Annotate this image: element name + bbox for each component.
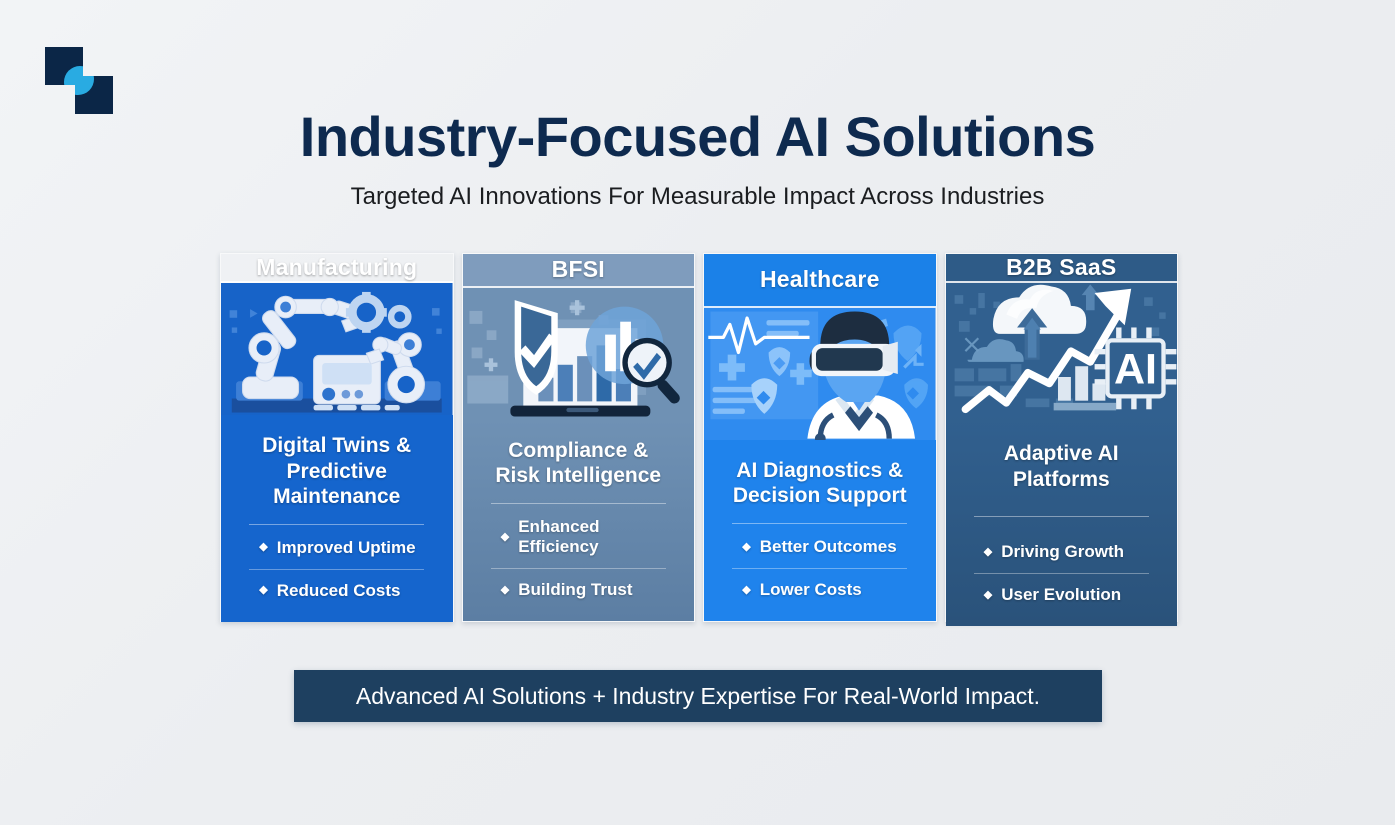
card-divider	[974, 516, 1149, 517]
diamond-bullet-icon: ◆	[259, 585, 267, 596]
card-title-manufacturing: Digital Twins & Predictive Maintenance	[235, 433, 439, 510]
illustration-doctor-vr-headset-vitals	[704, 308, 936, 440]
benefit-label: Driving Growth	[1001, 542, 1124, 562]
industry-card-healthcare[interactable]: Healthcare	[703, 253, 937, 622]
company-logo	[45, 47, 109, 107]
illustration-shield-check-bar-chart-magnifier	[463, 288, 695, 420]
benefit-label: Building Trust	[518, 580, 632, 600]
diamond-bullet-icon: ◆	[259, 542, 267, 553]
benefit-label: Reduced Costs	[277, 581, 401, 601]
card-title-bfsi: Compliance & Risk Intelligence	[495, 438, 661, 489]
list-item: ◆ Building Trust	[491, 568, 666, 611]
page-title: Industry-Focused AI Solutions	[0, 104, 1395, 169]
industry-card-bfsi[interactable]: BFSI	[462, 253, 696, 622]
card-header-manufacturing: Manufacturing	[221, 254, 453, 283]
card-benefits-healthcare: ◆ Better Outcomes ◆ Lower Costs	[732, 526, 907, 611]
illustration-cloud-arrow-growth-ai-chip: AI	[946, 283, 1178, 415]
industry-card-b2b-saas[interactable]: B2B SaaS	[945, 253, 1179, 622]
logo-quarter-circle-icon	[75, 76, 94, 95]
diamond-bullet-icon: ◆	[984, 547, 992, 558]
diamond-bullet-icon: ◆	[742, 585, 750, 596]
card-title-healthcare: AI Diagnostics & Decision Support	[733, 458, 907, 509]
list-item: ◆ Better Outcomes	[732, 526, 907, 568]
diamond-bullet-icon: ◆	[501, 585, 509, 596]
list-item: ◆ Reduced Costs	[249, 569, 424, 612]
list-item: ◆ Enhanced Efficiency	[491, 506, 666, 568]
diamond-bullet-icon: ◆	[984, 590, 992, 601]
benefit-label: Better Outcomes	[760, 537, 897, 557]
diamond-bullet-icon: ◆	[742, 542, 750, 553]
card-divider	[249, 524, 424, 525]
card-header-bfsi: BFSI	[463, 254, 695, 288]
benefit-label: Enhanced Efficiency	[518, 517, 666, 557]
list-item: ◆ Improved Uptime	[249, 527, 424, 569]
diamond-bullet-icon: ◆	[501, 532, 509, 543]
card-header-b2b-saas: B2B SaaS	[946, 254, 1178, 283]
card-benefits-bfsi: ◆ Enhanced Efficiency ◆ Building Trust	[491, 506, 666, 611]
card-benefits-manufacturing: ◆ Improved Uptime ◆ Reduced Costs	[249, 527, 424, 612]
list-item: ◆ Lower Costs	[732, 568, 907, 611]
list-item: ◆ Driving Growth	[974, 531, 1149, 573]
card-benefits-b2b-saas: ◆ Driving Growth ◆ User Evolution	[974, 531, 1149, 616]
card-header-healthcare: Healthcare	[704, 254, 936, 308]
footer-banner: Advanced AI Solutions + Industry Experti…	[294, 670, 1102, 722]
benefit-label: User Evolution	[1001, 585, 1121, 605]
svg-text:AI: AI	[1113, 345, 1156, 393]
industry-card-grid: Manufacturing	[220, 253, 1178, 622]
page-subtitle: Targeted AI Innovations For Measurable I…	[0, 183, 1395, 211]
benefit-label: Improved Uptime	[277, 538, 416, 558]
benefit-label: Lower Costs	[760, 580, 862, 600]
card-divider	[491, 503, 666, 504]
industry-card-manufacturing[interactable]: Manufacturing	[220, 253, 454, 622]
illustration-robotic-arms-gears	[221, 283, 453, 415]
list-item: ◆ User Evolution	[974, 573, 1149, 616]
card-divider	[732, 523, 907, 524]
card-title-b2b-saas: Adaptive AI Platforms	[960, 441, 1164, 492]
